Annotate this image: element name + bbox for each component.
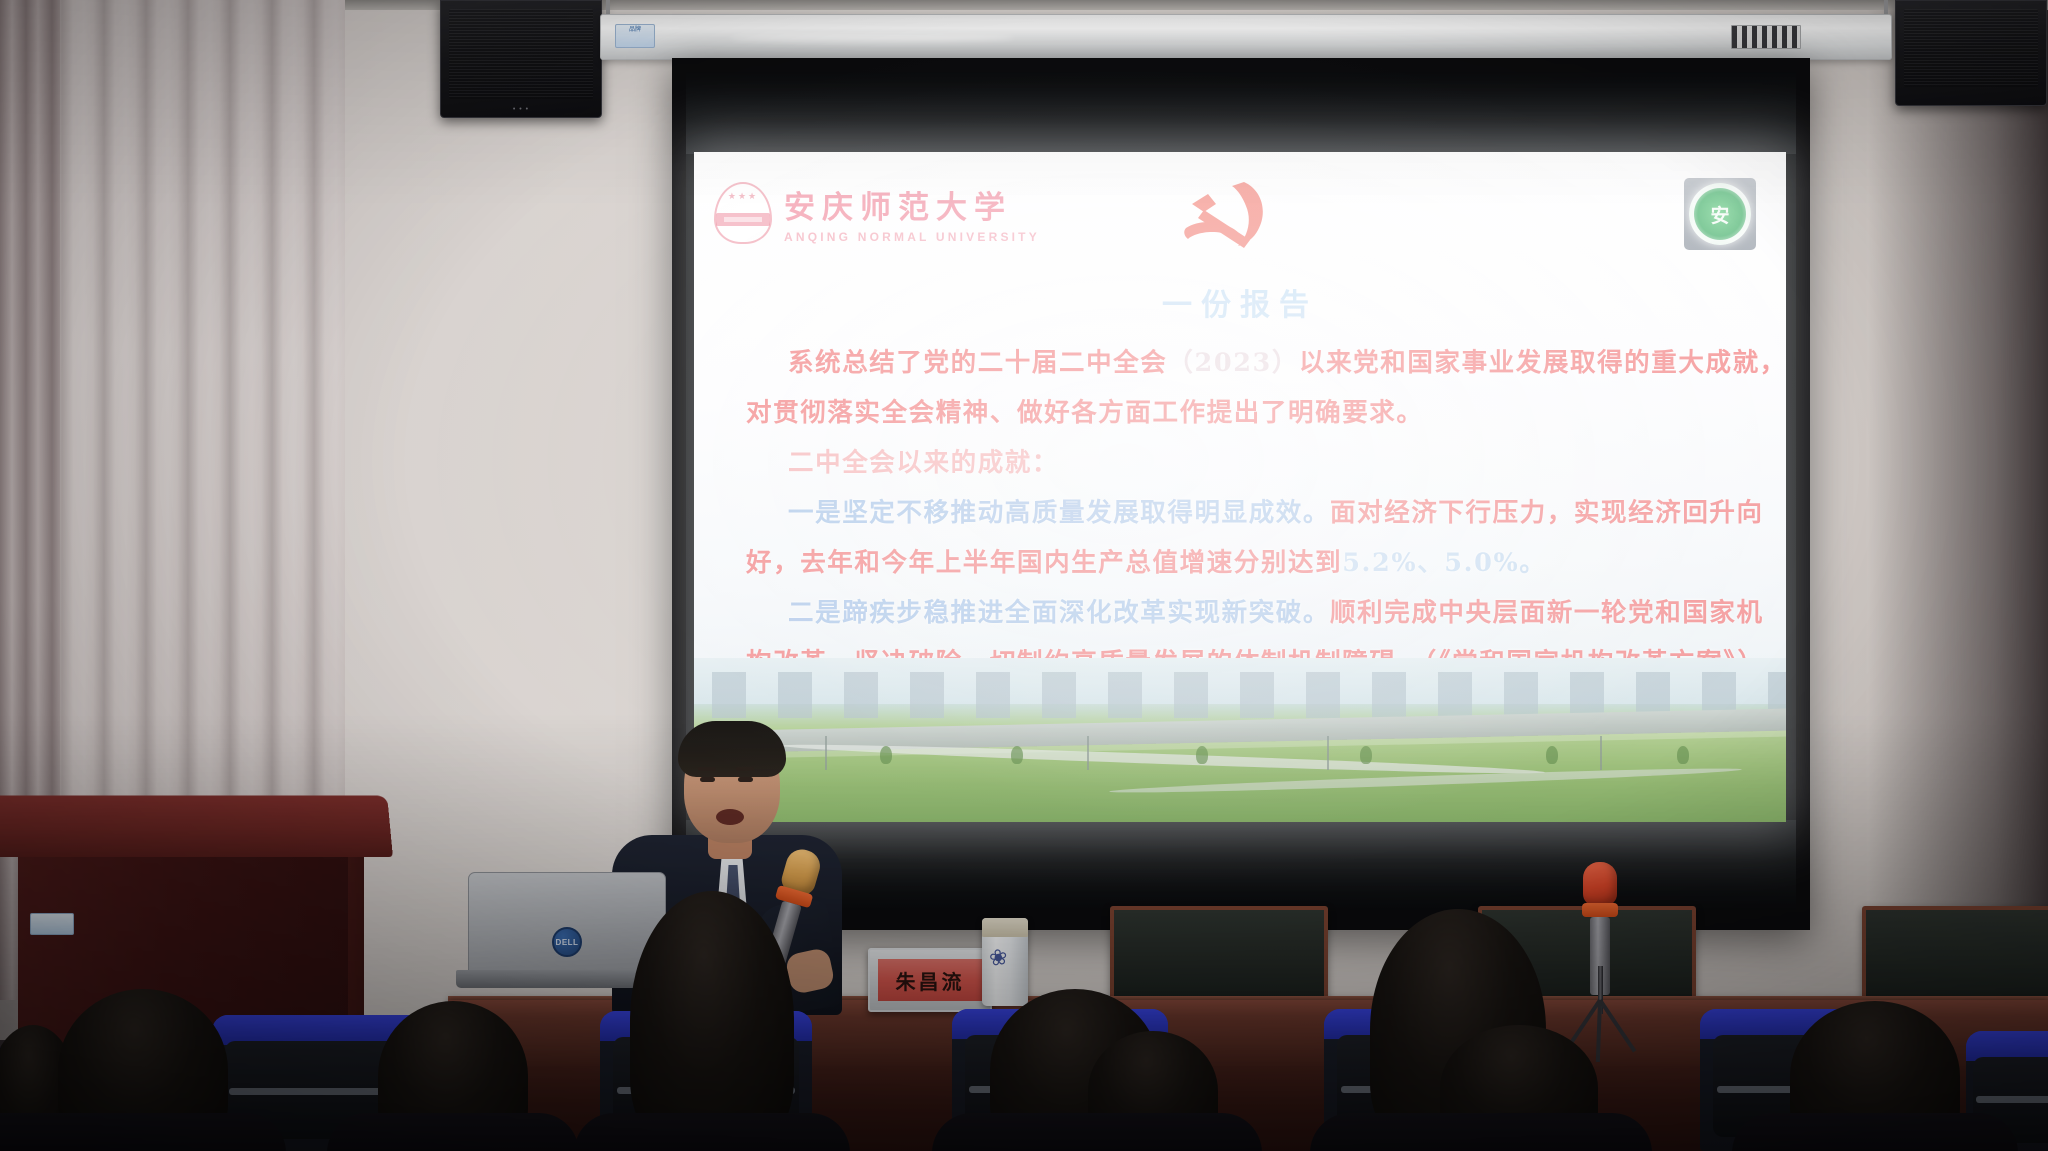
projected-slide: ★★★ 安庆师范大学 ANQING NORMAL UNIVERSITY bbox=[694, 152, 1786, 822]
slide-text-line: 对贯彻落实全会精神、做好各方面工作提出了明确要求。 bbox=[746, 388, 1756, 438]
photo-lamp-pole bbox=[1087, 736, 1089, 770]
campus-photo-strip bbox=[694, 658, 1786, 822]
wall-loudspeaker-right bbox=[1895, 0, 2047, 106]
audience-head bbox=[1088, 1031, 1218, 1151]
thermos-lid bbox=[982, 918, 1028, 937]
roller-brand-tag: 品牌 bbox=[615, 24, 655, 48]
university-logo: ★★★ 安庆师范大学 ANQING NORMAL UNIVERSITY bbox=[714, 182, 1040, 244]
speaker-grille bbox=[449, 9, 593, 99]
nameplate-text: 朱昌流 bbox=[896, 966, 965, 995]
podium-label-badge bbox=[30, 913, 74, 935]
chair-back-panel bbox=[1110, 906, 1328, 1010]
slide-text-segment: 对贯彻落实全会精神、做好各方面工作提出了明确要求。 bbox=[746, 398, 1424, 428]
slide-text-segment: 二是蹄疾步稳推进全面深化改革实现新突破。 bbox=[788, 598, 1330, 628]
logo-ring: 安 bbox=[1689, 183, 1751, 245]
porcelain-thermos-cup: ❀ bbox=[982, 918, 1028, 1006]
seat-stripe bbox=[1976, 1096, 2048, 1103]
slide-text-segment: 以来党和国家事业发展取得的重大成就， bbox=[1299, 348, 1786, 378]
chair-back-panel bbox=[1862, 906, 2048, 1010]
presenter-eyebrow-left bbox=[698, 767, 716, 771]
presenter-eyebrow-right bbox=[736, 767, 754, 771]
dell-logo-icon: DELL bbox=[552, 927, 582, 957]
slide-title: 一份报告 bbox=[694, 280, 1786, 324]
thermos-blue-white-pattern: ❀ bbox=[988, 946, 1024, 994]
slide-text-segment: 顺利完成中央层面新一轮党和国家机 bbox=[1330, 598, 1764, 628]
slide-text-segment: 系统总结了党的二十届二中全会 bbox=[788, 348, 1167, 378]
slide-text-segment: 面对经济下行压力，实现经济回升向 bbox=[1330, 498, 1764, 528]
photo-tree bbox=[1011, 746, 1023, 764]
university-name-en: ANQING NORMAL UNIVERSITY bbox=[784, 230, 1040, 244]
microphone-capsule bbox=[1583, 862, 1617, 906]
photo-tree bbox=[1360, 746, 1372, 764]
audience-head bbox=[1440, 1025, 1598, 1151]
screen-lower-dark-area bbox=[686, 820, 1796, 910]
photo-lamp-pole bbox=[1600, 736, 1602, 770]
slide-text-line: 二中全会以来的成就： bbox=[746, 438, 1756, 488]
university-name-block: 安庆师范大学 ANQING NORMAL UNIVERSITY bbox=[784, 182, 1040, 244]
slide-text-segment: 好，去年和今年上半年国内生产总值增速分别达到 bbox=[746, 548, 1342, 578]
photo-tree bbox=[1546, 746, 1558, 764]
lecture-hall-photo: • • • 品牌 ★★★ 安庆师范大学 ANQING NORMAL UNIVER bbox=[0, 0, 2048, 1151]
green-circular-institution-logo: 安 bbox=[1684, 178, 1756, 250]
podium-top-surface bbox=[0, 796, 393, 857]
projection-screen-roller[interactable]: 品牌 bbox=[600, 14, 1892, 60]
photo-tree bbox=[880, 746, 892, 764]
presenter-mouth bbox=[716, 809, 744, 825]
logo-center-glyph: 安 bbox=[1710, 201, 1729, 228]
slide-text-segment: 5.2%、5.0%。 bbox=[1342, 548, 1546, 578]
microphone-collar bbox=[1582, 903, 1618, 917]
crest-stars: ★★★ bbox=[714, 191, 772, 202]
slide-body-text: 系统总结了党的二十届二中全会（2023）以来党和国家事业发展取得的重大成就，对贯… bbox=[746, 338, 1756, 688]
photo-path-1 bbox=[781, 741, 1545, 778]
slide-text-segment: （2023） bbox=[1167, 348, 1299, 378]
slide-logo-row: ★★★ 安庆师范大学 ANQING NORMAL UNIVERSITY bbox=[694, 176, 1786, 260]
presenter-eye-right bbox=[738, 777, 753, 782]
slide-text-line: 系统总结了党的二十届二中全会（2023）以来党和国家事业发展取得的重大成就， bbox=[746, 338, 1756, 388]
roller-vent-grille bbox=[1731, 25, 1801, 49]
speaker-nameplate: 朱昌流 bbox=[868, 948, 992, 1012]
audience-head bbox=[630, 891, 794, 1151]
laptop-lid: DELL bbox=[468, 872, 666, 974]
speaker-brand-label: • • • bbox=[441, 106, 601, 113]
slide-text-line: 好，去年和今年上半年国内生产总值增速分别达到5.2%、5.0%。 bbox=[746, 538, 1756, 588]
photo-tree bbox=[1677, 746, 1689, 764]
screen-upper-dark-area bbox=[686, 72, 1796, 154]
wall-shadow-right bbox=[1868, 0, 2048, 1040]
roller-highlight bbox=[730, 33, 1014, 43]
photo-tree bbox=[1196, 746, 1208, 764]
slide-text-line: 二是蹄疾步稳推进全面深化改革实现新突破。顺利完成中央层面新一轮党和国家机 bbox=[746, 588, 1756, 638]
presenter-hair bbox=[678, 721, 786, 777]
speaker-grille bbox=[1904, 9, 2038, 87]
university-crest-icon: ★★★ bbox=[714, 182, 772, 244]
photo-lamp-pole bbox=[1327, 736, 1329, 770]
crest-band bbox=[716, 213, 770, 226]
university-name-cn: 安庆师范大学 bbox=[784, 182, 1040, 227]
slide-text-segment: 一是坚定不移推动高质量发展取得明显成效。 bbox=[788, 498, 1330, 528]
nameplate-insert: 朱昌流 bbox=[878, 959, 982, 1001]
presenter-eye-left bbox=[700, 777, 715, 782]
audience-head bbox=[378, 1001, 528, 1151]
audience-head bbox=[1790, 1001, 1960, 1151]
wall-loudspeaker-left: • • • bbox=[440, 0, 602, 118]
slide-text-line: 一是坚定不移推动高质量发展取得明显成效。面对经济下行压力，实现经济回升向 bbox=[746, 488, 1756, 538]
hammer-and-sickle-icon bbox=[1174, 176, 1278, 256]
slide-text-segment: 二中全会以来的成就： bbox=[788, 448, 1059, 478]
audience-head bbox=[58, 989, 228, 1151]
